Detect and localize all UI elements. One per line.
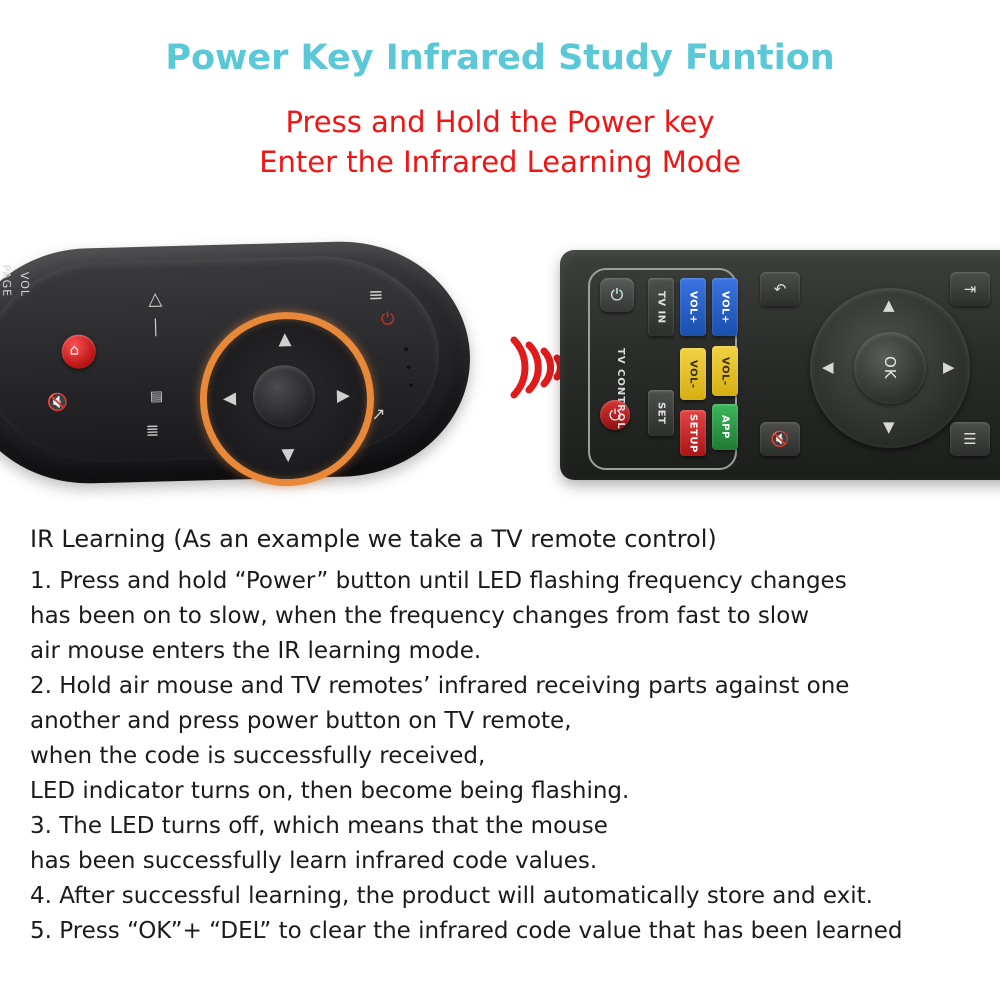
instruction-line: 4. After successful learning, the produc… <box>30 879 980 913</box>
app-button[interactable]: APP <box>712 404 738 450</box>
indicator-dot <box>406 364 411 369</box>
instruction-line: air mouse enters the IR learning mode. <box>30 634 980 668</box>
vol-down-button[interactable]: VOL- <box>680 348 706 400</box>
dpad-right-arrow[interactable]: ▶ <box>337 387 351 404</box>
vol-down-button-2[interactable]: VOL- <box>712 346 738 396</box>
menu-bars-icon[interactable]: ≣ <box>146 420 160 439</box>
infrared-signal-waves <box>498 320 568 415</box>
dpad-up-arrow[interactable]: ▲ <box>278 331 292 348</box>
tv-dpad-down-arrow[interactable]: ▼ <box>883 418 895 436</box>
product-illustration: DEL PAGE VOL 🔇 ⌂ △ │ ▤ ≣ ≡ ⏻ ↗ ▲ ▼ ◀ ▶ <box>0 225 1000 510</box>
tv-dpad-left-arrow[interactable]: ◀ <box>822 358 834 376</box>
instruction-line: LED indicator turns on, then become bein… <box>30 774 980 808</box>
list-icon[interactable]: │ <box>151 318 160 336</box>
exit-icon[interactable]: ⇥ <box>950 272 990 306</box>
tv-ok-button[interactable]: OK <box>854 332 926 404</box>
instruction-line: 1. Press and hold “Power” button until L… <box>30 564 980 598</box>
vol-up-button-2[interactable]: VOL+ <box>712 278 738 336</box>
menu-icon[interactable]: △ <box>148 288 162 309</box>
instruction-line: 3. The LED turns off, which means that t… <box>30 809 980 843</box>
instruction-line: 5. Press “OK”+ “DEL” to clear the infrar… <box>30 914 980 948</box>
page-title: Power Key Infrared Study Funtion <box>0 38 1000 78</box>
indicator-dot <box>404 346 409 351</box>
home-glyph: ⌂ <box>69 341 79 359</box>
tv-dpad[interactable]: OK ▲ ▼ ◀ ▶ <box>810 288 970 448</box>
instruction-line: another and press power button on TV rem… <box>30 704 980 738</box>
instruction-line: has been on to slow, when the frequency … <box>30 599 980 633</box>
setup-button[interactable]: SETUP <box>680 410 706 456</box>
air-mouse-remote: DEL PAGE VOL 🔇 ⌂ △ │ ▤ ≣ ≡ ⏻ ↗ ▲ ▼ ◀ ▶ <box>0 238 473 486</box>
tv-dpad-up-arrow[interactable]: ▲ <box>883 296 895 314</box>
power-icon[interactable]: ⏻ <box>381 309 395 329</box>
vol-up-button[interactable]: VOL+ <box>680 278 706 336</box>
subtitle-line-1: Press and Hold the Power key <box>0 105 1000 139</box>
menu-icon[interactable]: ☰ <box>950 422 990 456</box>
apps-icon[interactable]: ▤ <box>150 388 164 404</box>
instruction-line: 2. Hold air mouse and TV remotes’ infrar… <box>30 669 980 703</box>
mute-icon[interactable]: 🔇 <box>760 422 800 456</box>
volume-down-icon[interactable]: ≡ <box>368 285 384 306</box>
tv-remote: ⏻ ⏻ TV CONTROL TV IN SET VOL+ VOL- SETUP… <box>560 250 1000 480</box>
instruction-line: has been successfully learn infrared cod… <box>30 844 980 878</box>
mute-icon[interactable]: 🔇 <box>47 393 69 414</box>
air-mouse-faceplate: DEL PAGE VOL 🔇 ⌂ △ │ ▤ ≣ ≡ ⏻ ↗ ▲ ▼ ◀ ▶ <box>0 253 441 465</box>
dpad-left-arrow[interactable]: ◀ <box>223 390 237 407</box>
subtitle-line-2: Enter the Infrared Learning Mode <box>0 145 1000 179</box>
set-button[interactable]: SET <box>648 390 674 436</box>
tv-control-label: TV CONTROL <box>615 348 626 430</box>
air-mouse-vol-label: VOL <box>18 271 32 296</box>
air-mouse-ok-button[interactable] <box>252 364 316 428</box>
air-mouse-dpad[interactable]: ▲ ▼ ◀ ▶ <box>198 310 376 488</box>
tv-dpad-right-arrow[interactable]: ▶ <box>943 358 955 376</box>
indicator-dot <box>409 382 414 387</box>
dpad-down-arrow[interactable]: ▼ <box>281 447 295 464</box>
instructions-heading: IR Learning (As an example we take a TV … <box>30 522 980 558</box>
instruction-line: when the code is successfully received, <box>30 739 980 773</box>
air-mouse-page-label: PAGE <box>0 264 13 297</box>
return-icon[interactable]: ↶ <box>760 272 800 306</box>
tv-in-button[interactable]: TV IN <box>648 278 674 336</box>
tv-power-button[interactable]: ⏻ <box>600 278 634 312</box>
instructions-block: IR Learning (As an example we take a TV … <box>30 522 980 949</box>
